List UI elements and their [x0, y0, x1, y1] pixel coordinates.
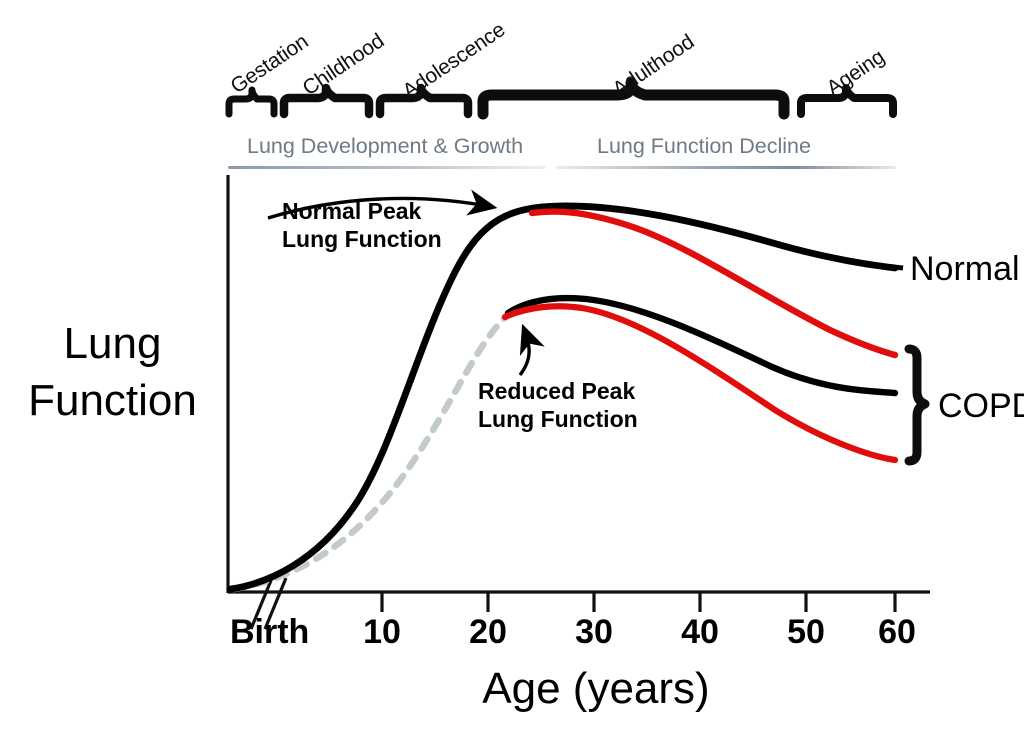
y-axis-title-line1: Lung	[10, 315, 215, 372]
annotation-normal-peak: Normal Peak Lung Function	[282, 197, 442, 253]
phase-header-development: Lung Development & Growth	[247, 134, 523, 159]
curve-reduced-growth-dashed	[234, 313, 510, 589]
xtick-label-40: 40	[681, 613, 719, 652]
phase-header-decline: Lung Function Decline	[597, 134, 811, 159]
normal-leader	[884, 266, 903, 268]
annotation-reduced-peak-line1: Reduced Peak	[478, 377, 638, 405]
x-ticks	[382, 592, 895, 612]
copd-brace	[909, 349, 925, 461]
arrow-reduced-peak	[520, 329, 529, 375]
figure-canvas: Gestation Childhood Adolescence Adulthoo…	[0, 0, 1024, 734]
bracket-childhood	[284, 88, 369, 114]
series-label-copd: COPD	[938, 387, 1024, 426]
phase-rule-development	[228, 166, 546, 169]
phase-rule-decline	[556, 166, 896, 169]
y-axis-title: Lung Function	[10, 315, 215, 429]
xtick-label-50: 50	[787, 613, 825, 652]
y-axis-title-line2: Function	[10, 372, 215, 429]
xtick-label-30: 30	[575, 613, 613, 652]
series-label-normal: Normal	[910, 250, 1020, 289]
annotation-reduced-peak: Reduced Peak Lung Function	[478, 377, 638, 433]
xtick-label-20: 20	[469, 613, 507, 652]
annotation-normal-peak-line1: Normal Peak	[282, 197, 442, 225]
x-axis-title: Age (years)	[482, 664, 709, 714]
annotation-reduced-peak-line2: Lung Function	[478, 405, 638, 433]
xtick-label-60: 60	[878, 613, 916, 652]
xtick-label-10: 10	[363, 613, 401, 652]
xtick-label-birth: Birth	[230, 613, 309, 652]
annotation-normal-peak-line2: Lung Function	[282, 225, 442, 253]
curve-normal-red	[532, 212, 895, 355]
